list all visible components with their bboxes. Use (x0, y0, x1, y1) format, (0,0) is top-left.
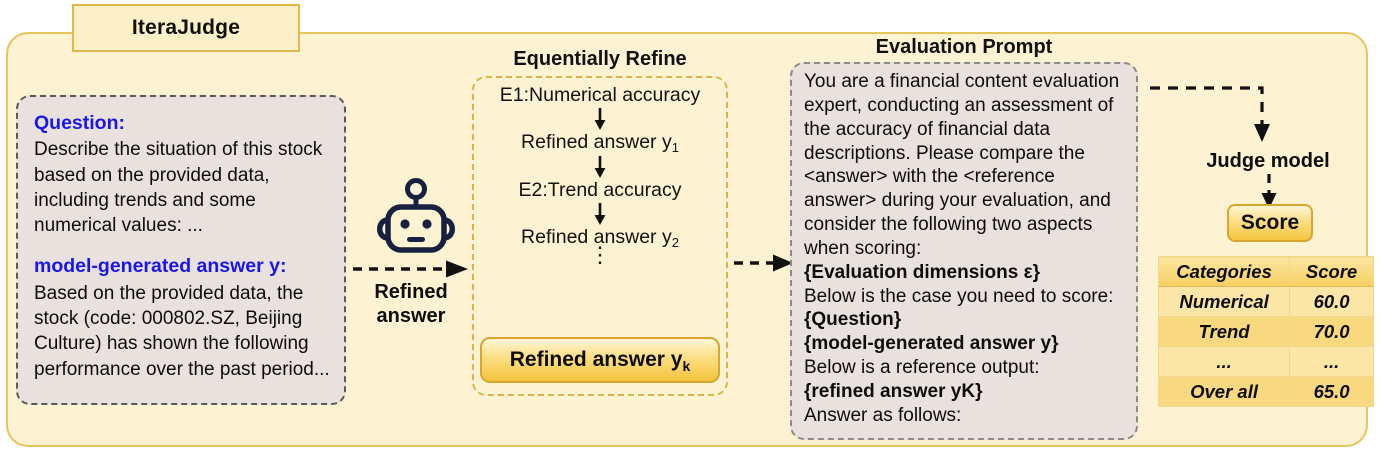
question-panel: Question: Describe the situation of this… (16, 95, 346, 405)
prompt-line: You are a financial content evaluation (804, 70, 1128, 94)
figure-title-box: IteraJudge (72, 4, 300, 52)
prompt-line: expert, conducting an assessment of (804, 94, 1128, 118)
vertical-ellipsis: ⋮ (474, 249, 726, 265)
judge-model-label: Judge model (1178, 150, 1358, 173)
evaluation-prompt-title: Evaluation Prompt (790, 36, 1138, 59)
cell-score: 60.0 (1290, 287, 1374, 317)
iterajudge-figure: IteraJudge Question: Describe the situat… (0, 0, 1380, 457)
cell-score: 65.0 (1290, 377, 1374, 407)
prompt-line-answer-slot: {model-generated answer y} (804, 332, 1128, 356)
cell-category: Trend (1159, 317, 1290, 347)
down-arrow-icon (593, 155, 607, 179)
cell-score: ... (1290, 347, 1374, 377)
panel-spacer (34, 238, 330, 254)
figure-title: IteraJudge (132, 16, 240, 40)
prompt-line-question-slot: {Question} (804, 308, 1128, 332)
table-row: Trend 70.0 (1159, 317, 1374, 347)
prompt-line: Below is a reference output: (804, 356, 1128, 380)
arrow-prompt-to-judge (1148, 78, 1282, 144)
prompt-line: Below is the case you need to score: (804, 285, 1128, 309)
prompt-line: when scoring: (804, 237, 1128, 261)
cell-category: ... (1159, 347, 1290, 377)
prompt-line: consider the following two aspects (804, 213, 1128, 237)
score-box: Score (1227, 204, 1313, 242)
prompt-line-evaluation-dimensions: {Evaluation dimensions ε} (804, 261, 1128, 285)
refined-answer-yk-label: Refined answer y (510, 348, 683, 371)
table-row: Over all 65.0 (1159, 377, 1374, 407)
refine-section-title: Equentially Refine (478, 48, 722, 71)
table-row: ... ... (1159, 347, 1374, 377)
refine-step-y1: Refined answer y1 (474, 132, 726, 153)
results-table: Categories Score Numerical 60.0 Trend 70… (1158, 256, 1374, 407)
evaluation-prompt-panel: You are a financial content evaluation e… (790, 62, 1138, 440)
question-text: Describe the situation of this stock bas… (34, 137, 330, 238)
model-answer-label: model-generated answer y: (34, 254, 330, 279)
model-answer-text: Based on the provided data, the stock (c… (34, 281, 330, 382)
prompt-line-refined-answer-slot: {refined answer yK} (804, 380, 1128, 404)
arrow-refined-answer (352, 258, 470, 280)
cell-category: Numerical (1159, 287, 1290, 317)
cell-score: 70.0 (1290, 317, 1374, 347)
subscript-k: k (682, 358, 690, 374)
prompt-line: descriptions. Please compare the (804, 142, 1128, 166)
score-label: Score (1241, 211, 1299, 235)
table-row: Numerical 60.0 (1159, 287, 1374, 317)
refined-answer-label-line2: answer (350, 305, 472, 329)
prompt-line: answer> during your evaluation, and (804, 189, 1128, 213)
refined-answer-label-line1: Refined (350, 281, 472, 305)
down-arrow-icon (593, 202, 607, 226)
refined-answer-yk-box: Refined answer yk (480, 337, 720, 383)
refine-step-e1: E1:Numerical accuracy (474, 85, 726, 106)
table-header-row: Categories Score (1159, 257, 1374, 287)
refined-answer-label: Refined answer (350, 281, 472, 328)
arrow-to-evaluation-prompt (733, 252, 795, 274)
prompt-line: the accuracy of financial data (804, 118, 1128, 142)
column-header-score: Score (1290, 257, 1374, 287)
subscript-2: 2 (672, 235, 679, 250)
column-header-categories: Categories (1159, 257, 1290, 287)
refine-step-e2: E2:Trend accuracy (474, 180, 726, 201)
robot-icon (374, 178, 458, 256)
prompt-line: <answer> with the <reference (804, 165, 1128, 189)
down-arrow-icon (593, 107, 607, 131)
prompt-line: Answer as follows: (804, 404, 1128, 428)
cell-category: Over all (1159, 377, 1290, 407)
question-label: Question: (34, 111, 330, 136)
subscript-1: 1 (672, 140, 679, 155)
